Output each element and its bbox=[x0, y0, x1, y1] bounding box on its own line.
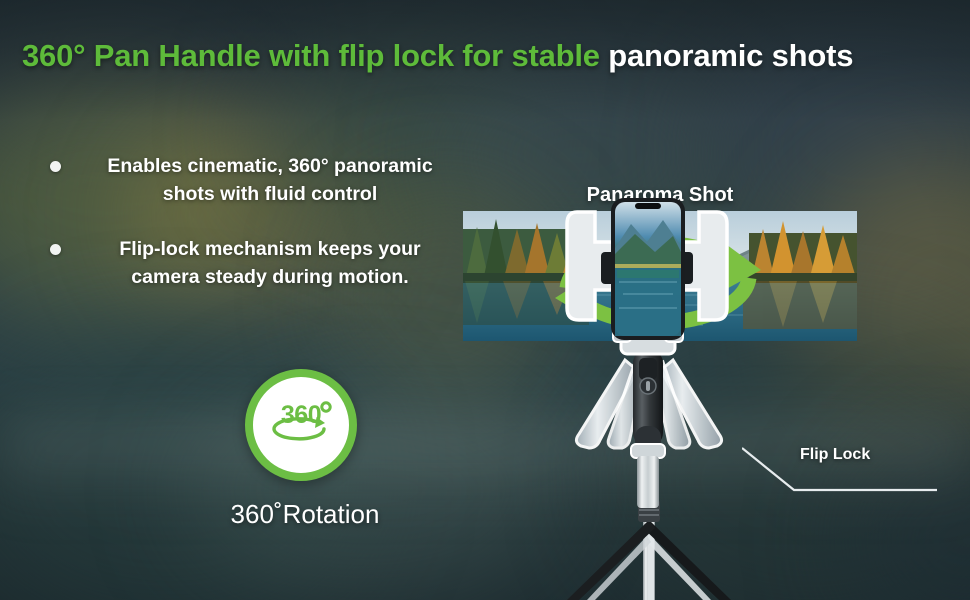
bullet-text: Flip-lock mechanism keeps your camera st… bbox=[84, 235, 456, 292]
headline-white-text: panoramic shots bbox=[600, 38, 853, 73]
headline-green-text: 360° Pan Handle with flip lock for stabl… bbox=[22, 38, 600, 73]
callout-label: Flip Lock bbox=[800, 446, 870, 464]
badge-ring: 360 bbox=[245, 369, 357, 481]
bullet-dot-icon bbox=[50, 244, 61, 255]
svg-text:360: 360 bbox=[281, 401, 321, 429]
tripod-product-image bbox=[505, 190, 805, 600]
rotation-badge-caption: 360˚Rotation bbox=[180, 499, 430, 530]
product-feature-banner: 360° Pan Handle with flip lock for stabl… bbox=[0, 0, 970, 600]
list-item: Flip-lock mechanism keeps your camera st… bbox=[50, 235, 470, 292]
rotation-badge: 360 bbox=[245, 369, 357, 481]
flip-lock-callout: Flip Lock bbox=[742, 446, 952, 506]
bullet-dot-icon bbox=[50, 161, 61, 172]
feature-bullet-list: Enables cinematic, 360° panoramic shots … bbox=[50, 152, 470, 317]
bullet-text: Enables cinematic, 360° panoramic shots … bbox=[84, 152, 456, 209]
rotation-arrow-icon: 360 bbox=[253, 377, 349, 473]
page-title: 360° Pan Handle with flip lock for stabl… bbox=[22, 38, 853, 74]
list-item: Enables cinematic, 360° panoramic shots … bbox=[50, 152, 470, 209]
